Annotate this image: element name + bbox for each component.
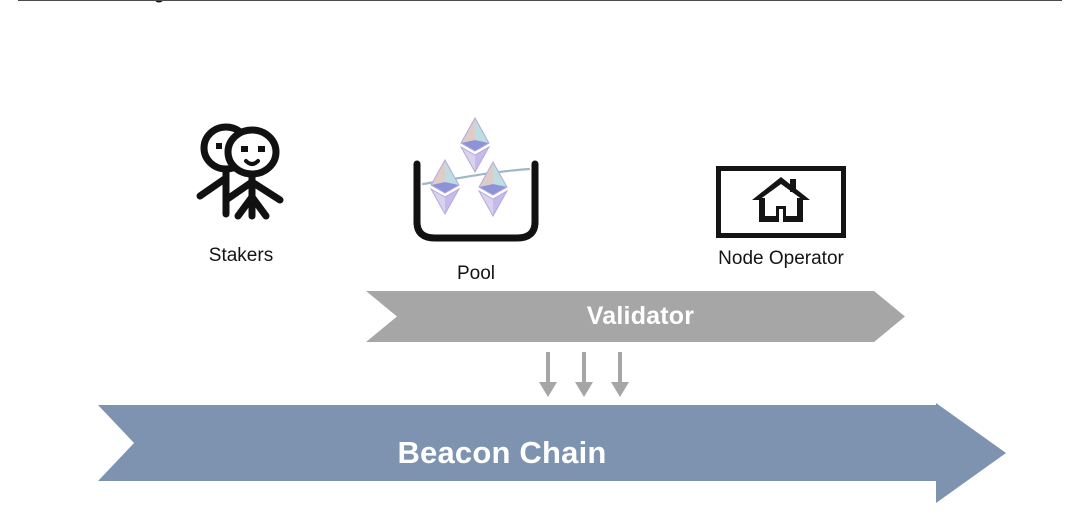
header-divider	[18, 0, 1062, 1]
two-people-stick-figure-icon	[186, 122, 296, 237]
node-stakers-label: Stakers	[209, 245, 273, 267]
connector-arrows-group	[530, 352, 640, 400]
band-beacon-chain[interactable]: Beacon Chain	[98, 403, 1006, 503]
node-pool[interactable]: Pool	[398, 112, 554, 285]
slide-header: The business logic of LSD Protocol CAPIT…	[0, 0, 1080, 16]
band-validator[interactable]: Validator	[366, 291, 905, 342]
node-stakers[interactable]: Stakers	[165, 122, 317, 267]
node-pool-label: Pool	[457, 263, 495, 285]
band-beacon-chain-label: Beacon Chain	[98, 403, 1006, 503]
house-in-frame-icon	[750, 174, 812, 231]
band-validator-label: Validator	[366, 291, 905, 342]
slide-canvas: The business logic of LSD Protocol CAPIT…	[0, 0, 1080, 525]
pool-container-with-ethereum-icon	[381, 112, 571, 257]
node-operator-frame	[716, 166, 846, 238]
down-arrow-icon	[539, 382, 629, 397]
node-node-operator-label: Node Operator	[718, 248, 844, 270]
node-node-operator[interactable]: Node Operator	[700, 166, 862, 270]
